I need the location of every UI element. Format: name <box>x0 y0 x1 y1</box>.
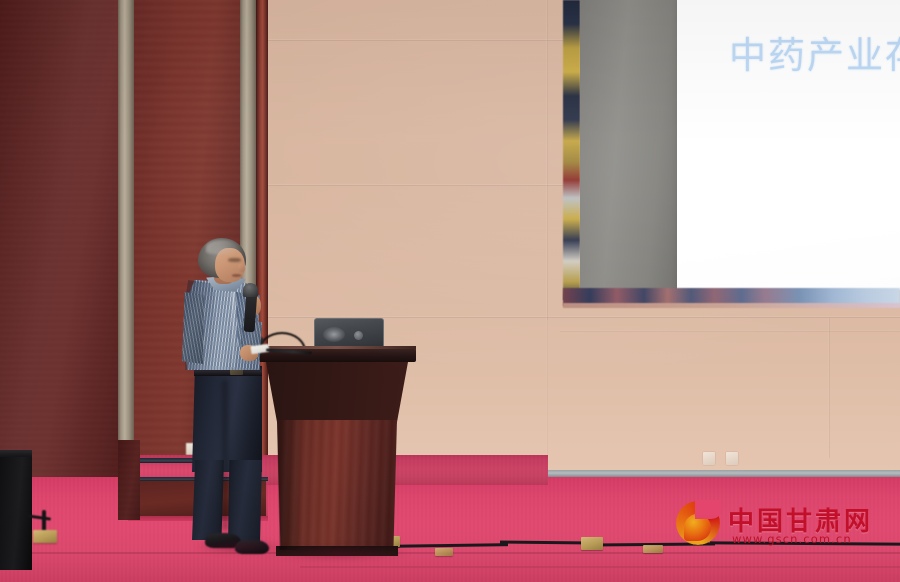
projection-screen: 中药产业存 <box>677 0 900 290</box>
carpet-seam <box>300 566 900 568</box>
presenter-eye <box>228 258 241 262</box>
handheld-microphone-head <box>243 283 258 297</box>
slide-text: 中药产业存 <box>729 25 900 79</box>
floor-outlet-cover <box>581 537 603 550</box>
wall-seam <box>560 330 900 332</box>
loudspeaker-cabinet <box>0 452 32 570</box>
wall-outlet[interactable] <box>726 452 738 465</box>
screen-side-panel <box>580 0 677 293</box>
wall-seam-vertical <box>546 0 548 320</box>
presenter-nose <box>238 264 245 272</box>
lectern-shading <box>277 420 303 550</box>
watermark: 中国甘肃网 www.gscn.com.cn <box>676 497 866 553</box>
wall-seam-vertical <box>828 318 830 458</box>
trouser-crease <box>220 380 230 530</box>
presenter-arm-left <box>182 292 204 364</box>
logo-droplet <box>684 514 711 541</box>
wood-sheen <box>0 0 118 500</box>
shirt-placket <box>232 286 235 368</box>
laptop[interactable] <box>314 318 384 349</box>
loudspeaker-top <box>0 450 32 457</box>
lectern-upper-body <box>266 362 408 424</box>
lectern-shadow <box>268 545 408 561</box>
wall-outlet[interactable] <box>703 452 715 465</box>
decorative-mosaic-strip <box>563 0 580 300</box>
metal-trim-strip <box>118 0 134 500</box>
presenter-mouth <box>232 274 241 277</box>
laptop-logo <box>354 331 363 340</box>
floor-cable <box>42 510 46 532</box>
gansu-net-logo-icon <box>676 501 720 545</box>
floor-outlet-cover <box>435 548 453 556</box>
wood-wall-return <box>118 440 140 520</box>
wall-seam-vertical <box>546 318 548 458</box>
photo-canvas: 中药产业存 <box>0 0 900 582</box>
laptop-reflection <box>323 327 345 342</box>
floor-outlet-cover <box>33 530 57 543</box>
floor-outlet-cover <box>643 545 663 553</box>
band-shadow <box>563 303 900 308</box>
watermark-url: www.gscn.com.cn <box>732 532 852 546</box>
hair-highlight <box>206 240 238 254</box>
